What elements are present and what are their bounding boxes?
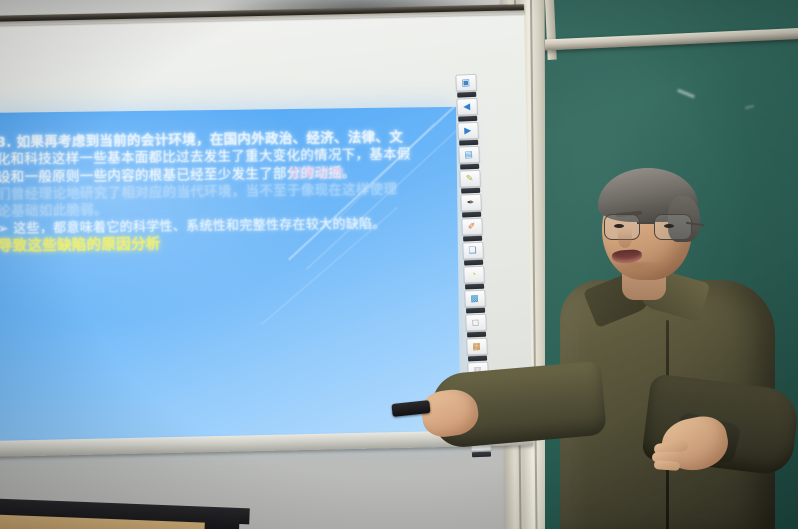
presenter xyxy=(470,150,798,529)
right-finger-3 xyxy=(654,460,681,471)
slide-line-4: 如果说他 xyxy=(289,164,447,183)
presenter-chin-shadow xyxy=(608,262,664,278)
select-tool[interactable]: ▣ xyxy=(455,74,477,98)
undo-icon[interactable]: ◀ xyxy=(456,98,478,116)
tool-label-strip xyxy=(458,116,477,122)
tool-glyph: ◀ xyxy=(463,102,470,111)
redo-tool[interactable]: ▶ xyxy=(457,122,479,146)
presenter-eye-right xyxy=(664,224,674,228)
select-icon[interactable]: ▣ xyxy=(455,74,477,92)
tool-label-strip xyxy=(459,140,478,146)
redo-icon[interactable]: ▶ xyxy=(457,122,479,140)
undo-tool[interactable]: ◀ xyxy=(456,98,478,122)
glasses-bridge xyxy=(637,222,655,224)
lecture-photo-scene: 3. 如果再考虑到当前的会计环境，在国内外政治、经济、法律、文 化和科技这样一些… xyxy=(0,0,798,529)
projected-slide: 3. 如果再考虑到当前的会计环境，在国内外政治、经济、法律、文 化和科技这样一些… xyxy=(0,107,460,443)
slide-text-block: 3. 如果再考虑到当前的会计环境，在国内外政治、经济、法律、文 化和科技这样一些… xyxy=(0,129,448,257)
tool-glyph: ▶ xyxy=(464,126,471,135)
tool-glyph: ▣ xyxy=(461,78,470,87)
presenter-nose xyxy=(618,228,632,248)
tool-label-strip xyxy=(457,92,476,98)
